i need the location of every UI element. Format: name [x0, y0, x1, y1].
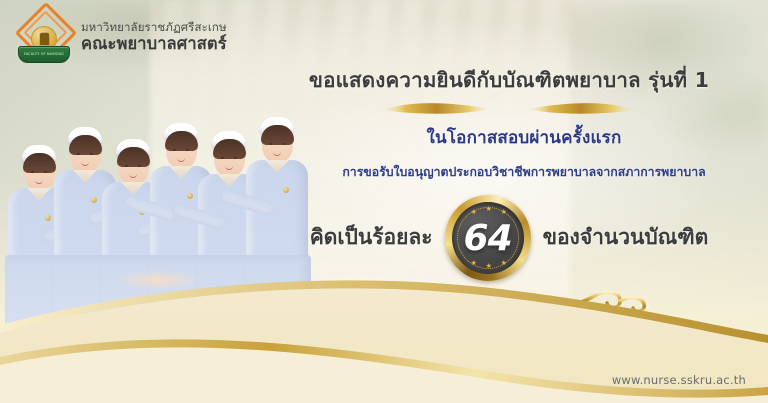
crest-ribbon: FACULTY OF NURSING — [18, 46, 70, 63]
faculty-name: คณะพยาบาลศาสตร์ — [81, 35, 227, 53]
brand-header: FACULTY OF NURSING มหาวิทยาลัยราชภัฏศรีส… — [14, 8, 227, 66]
percentage-row: คิดเป็นร้อยละ ★ ★ ★ ★ ★ ★ 64 ของจำนวนบัณ… — [250, 213, 768, 261]
crest-ribbon-label: FACULTY OF NURSING — [19, 47, 69, 62]
gold-ribbon-swirl-icon — [375, 98, 645, 120]
percent-suffix-label: ของจำนวนบัณฑิต — [543, 221, 709, 254]
subtitle-line: ในโอกาสสอบผ่านครั้งแรก — [280, 124, 768, 151]
website-url: www.nurse.sskru.ac.th — [612, 373, 746, 387]
congratulations-banner: FACULTY OF NURSING มหาวิทยาลัยราชภัฏศรีส… — [0, 0, 768, 403]
percent-value: 64 — [445, 195, 531, 281]
description-line: การขอรับใบอนุญาตประกอบวิชาชีพการพยาบาลจา… — [280, 163, 768, 182]
university-name: มหาวิทยาลัยราชภัฏศรีสะเกษ — [81, 21, 227, 34]
brand-text: มหาวิทยาลัยราชภัฏศรีสะเกษ คณะพยาบาลศาสตร… — [81, 21, 227, 53]
university-crest-icon: FACULTY OF NURSING — [14, 8, 72, 66]
gold-medal-badge: ★ ★ ★ ★ ★ ★ 64 — [445, 195, 531, 281]
page-title: ขอแสดงความยินดีกับบัณฑิตพยาบาล รุ่นที่ 1 — [250, 64, 768, 97]
percent-prefix-label: คิดเป็นร้อยละ — [310, 221, 433, 254]
